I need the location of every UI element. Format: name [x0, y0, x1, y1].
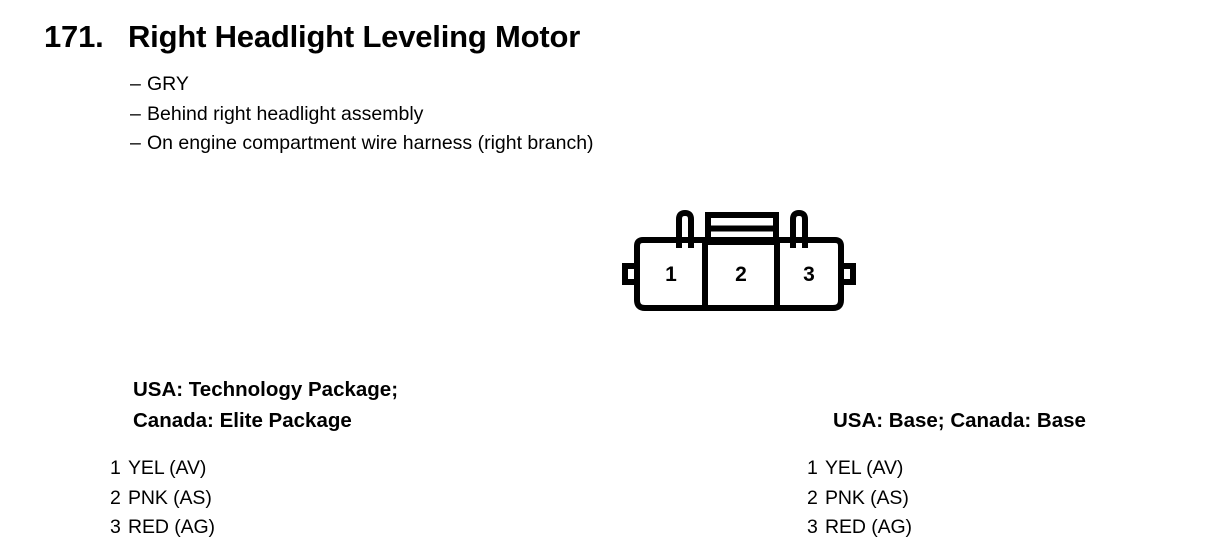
- dash-bullet-icon: –: [130, 70, 147, 100]
- list-item: – On engine compartment wire harness (ri…: [130, 129, 594, 159]
- pin-row: 1 YEL (AV): [807, 454, 1086, 484]
- pin-number: 3: [110, 513, 128, 543]
- pin-number: 2: [807, 484, 825, 514]
- cavity-label-3: 3: [803, 263, 815, 286]
- pin-label: YEL (AV): [128, 454, 206, 484]
- description-list: – GRY – Behind right headlight assembly …: [130, 70, 594, 159]
- list-item-label: Behind right headlight assembly: [147, 100, 423, 130]
- dash-bullet-icon: –: [130, 100, 147, 130]
- pin-number: 1: [807, 454, 825, 484]
- variant-heading: USA: Technology Package; Canada: Elite P…: [133, 374, 398, 436]
- cavity-label-1: 1: [665, 263, 677, 286]
- pin-list: 1 YEL (AV) 2 PNK (AS) 3 RED (AG): [807, 454, 1086, 543]
- dash-bullet-icon: –: [130, 129, 147, 159]
- pin-list: 1 YEL (AV) 2 PNK (AS) 3 RED (AG): [110, 454, 398, 543]
- list-item-label: On engine compartment wire harness (righ…: [147, 129, 594, 159]
- pin-row: 2 PNK (AS): [807, 484, 1086, 514]
- pin-row: 2 PNK (AS): [110, 484, 398, 514]
- pin-label: PNK (AS): [825, 484, 909, 514]
- variant-technology-elite: USA: Technology Package; Canada: Elite P…: [110, 374, 398, 543]
- pin-label: RED (AG): [128, 513, 215, 543]
- pin-row: 3 RED (AG): [110, 513, 398, 543]
- variant-heading-line: USA: Technology Package;: [133, 374, 398, 405]
- variant-heading-line: USA: Base; Canada: Base: [833, 405, 1086, 436]
- variant-base-base: USA: Base; Canada: Base 1 YEL (AV) 2 PNK…: [807, 405, 1086, 543]
- variant-heading: USA: Base; Canada: Base: [833, 405, 1086, 436]
- pin-number: 3: [807, 513, 825, 543]
- variant-heading-line: Canada: Elite Package: [133, 405, 398, 436]
- cavity-label-2: 2: [735, 263, 747, 286]
- pin-row: 1 YEL (AV): [110, 454, 398, 484]
- page-title-text: Right Headlight Leveling Motor: [128, 19, 580, 54]
- pin-label: YEL (AV): [825, 454, 903, 484]
- connector-diagram: 1 2 3: [604, 204, 880, 320]
- pin-label: PNK (AS): [128, 484, 212, 514]
- page-title: 171.Right Headlight Leveling Motor: [44, 18, 580, 56]
- section-number: 171.: [44, 18, 128, 56]
- list-item-label: GRY: [147, 70, 189, 100]
- list-item: – Behind right headlight assembly: [130, 100, 594, 130]
- pin-number: 2: [110, 484, 128, 514]
- pin-row: 3 RED (AG): [807, 513, 1086, 543]
- pin-label: RED (AG): [825, 513, 912, 543]
- list-item: – GRY: [130, 70, 594, 100]
- pin-number: 1: [110, 454, 128, 484]
